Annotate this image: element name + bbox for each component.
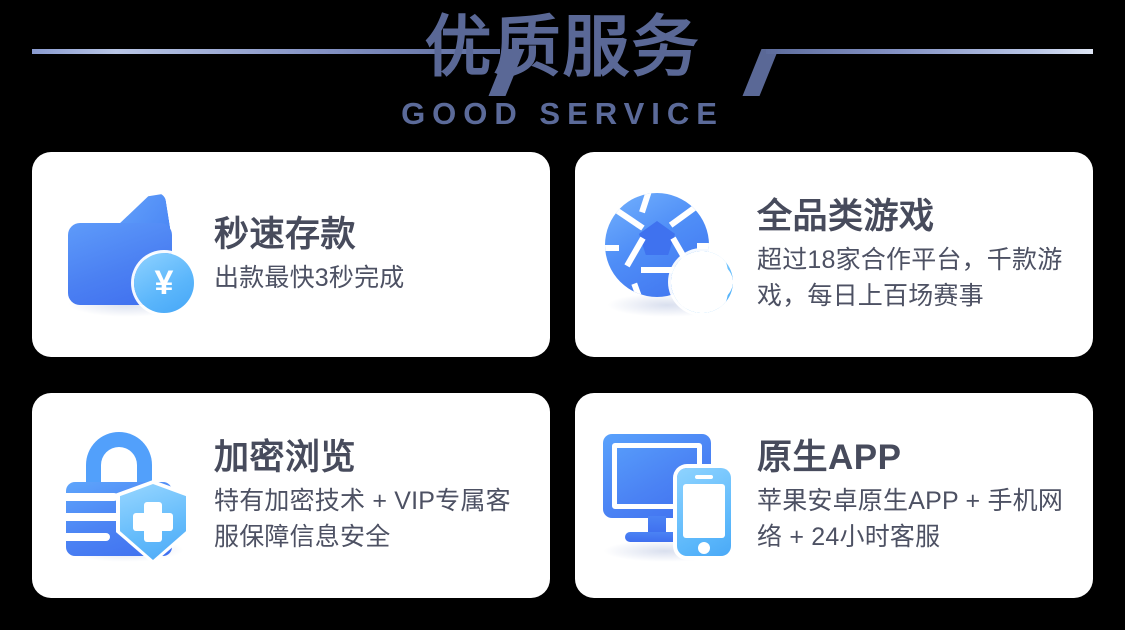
feature-card-subtitle: 苹果安卓原生APP + 手机网络 + 24小时客服 [757,483,1077,555]
wallet-yen-icon: ¥ [54,187,214,322]
feature-card-subtitle: 出款最快3秒完成 [214,260,534,296]
feature-card-text: 原生APP 苹果安卓原生APP + 手机网络 + 24小时客服 [757,437,1093,555]
feature-card-encryption[interactable]: 加密浏览 特有加密技术 + VIP专属客服保障信息安全 [32,393,550,598]
feature-card-deposit[interactable]: ¥ 秒速存款 出款最快3秒完成 [32,152,550,357]
promo-banner: 优质服务 GOOD SERVICE ¥ 秒速存款 出款最快3秒完成 [0,0,1125,630]
feature-card-text: 秒速存款 出款最快3秒完成 [214,214,550,296]
soccer-basketball-icon [597,187,757,322]
monitor-phone-icon [597,428,757,563]
feature-card-title: 加密浏览 [214,437,534,479]
feature-card-grid: ¥ 秒速存款 出款最快3秒完成 [32,152,1093,598]
feature-card-title: 秒速存款 [214,214,534,256]
feature-card-games[interactable]: 全品类游戏 超过18家合作平台，千款游戏，每日上百场赛事 [575,152,1093,357]
feature-card-title: 全品类游戏 [757,196,1077,238]
lock-shield-icon [54,428,214,563]
feature-card-subtitle: 超过18家合作平台，千款游戏，每日上百场赛事 [757,242,1077,314]
feature-card-text: 加密浏览 特有加密技术 + VIP专属客服保障信息安全 [214,437,550,555]
feature-card-title: 原生APP [757,437,1077,479]
page-title: 优质服务 [0,8,1125,88]
phone-icon [677,468,731,556]
feature-card-subtitle: 特有加密技术 + VIP专属客服保障信息安全 [214,483,534,555]
section-header: 优质服务 GOOD SERVICE [0,0,1125,150]
yen-coin-icon: ¥ [134,253,194,313]
feature-card-text: 全品类游戏 超过18家合作平台，千款游戏，每日上百场赛事 [757,196,1093,314]
feature-card-native-app[interactable]: 原生APP 苹果安卓原生APP + 手机网络 + 24小时客服 [575,393,1093,598]
basketball-icon [671,251,733,313]
page-subtitle: GOOD SERVICE [0,96,1125,132]
